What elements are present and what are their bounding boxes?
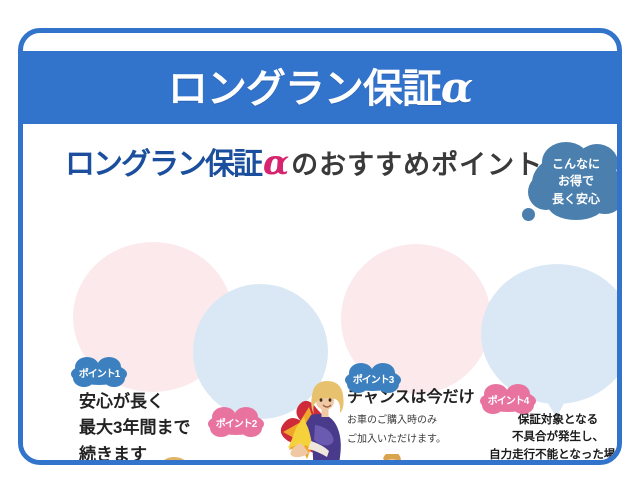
poster-frame: ロングラン保証α ロングラン保証αのおすすめポイント こんなに お得で 長く安心: [18, 28, 622, 465]
cloud-line-2: お得で: [528, 173, 622, 190]
point-4-badge: ポイント4: [480, 384, 536, 414]
point-3-badge-label: ポイント3: [345, 371, 401, 386]
point-1-badge-label: ポイント1: [71, 365, 127, 380]
page-title-alpha: α: [441, 63, 472, 112]
point-4-backdrop: [481, 264, 622, 404]
point-1-line-2: 最大3年間まで: [79, 415, 190, 441]
page-title: ロングラン保証α: [168, 67, 472, 109]
couple-at-table-illustration: [338, 454, 478, 465]
subtitle-rest: のおすすめポイント: [291, 150, 543, 180]
body-area: ロングラン保証αのおすすめポイント こんなに お得で 長く安心: [23, 124, 617, 465]
point-1-line-3: 続きます: [79, 442, 190, 465]
subtitle-alpha: α: [261, 143, 291, 183]
cloud-line-1: こんなに: [528, 156, 622, 173]
point-1-badge: ポイント1: [71, 357, 127, 387]
cloud-speech-bubble: こんなに お得で 長く安心: [528, 142, 622, 220]
poster-canvas: ロングラン保証α ロングラン保証αのおすすめポイント こんなに お得で 長く安心: [0, 0, 640, 480]
subtitle: ロングラン保証αのおすすめポイント: [65, 146, 543, 180]
point-3-sub-1: お車のご購入時のみ: [347, 413, 475, 429]
point-4-badge-label: ポイント4: [480, 392, 536, 407]
point-1-line-1: 安心が長く: [79, 389, 190, 415]
point-1-text: 安心が長く 最大3年間まで 続きます: [79, 389, 190, 465]
bubble-tail: [522, 208, 535, 221]
point-3-badge: ポイント3: [345, 363, 401, 393]
point-2-badge: ポイント2: [208, 407, 264, 437]
point-4-line-4: 付帯費用保証が: [485, 464, 622, 465]
point-4-line-3: 自力走行不能となった場合: [485, 447, 622, 464]
header-band: ロングラン保証α: [23, 51, 617, 124]
cloud-line-3: 長く安心: [528, 191, 622, 208]
point-4-line-1: 保証対象となる: [485, 412, 622, 429]
point-4-line-2: 不具合が発生し、: [485, 429, 622, 446]
cloud-bubble-text: こんなに お得で 長く安心: [528, 156, 622, 208]
subtitle-brand: ロングラン保証: [65, 147, 261, 182]
point-2-badge-label: ポイント2: [208, 415, 264, 430]
page-title-main: ロングラン保証: [168, 67, 441, 111]
point-4-text: 保証対象となる 不具合が発生し、 自力走行不能となった場合 付帯費用保証が 納車…: [485, 412, 622, 465]
point-3-sub-2: ご加入いただけます。: [347, 432, 475, 448]
point-3-text: チャンスは今だけ お車のご購入時のみ ご加入いただけます。: [347, 386, 475, 448]
